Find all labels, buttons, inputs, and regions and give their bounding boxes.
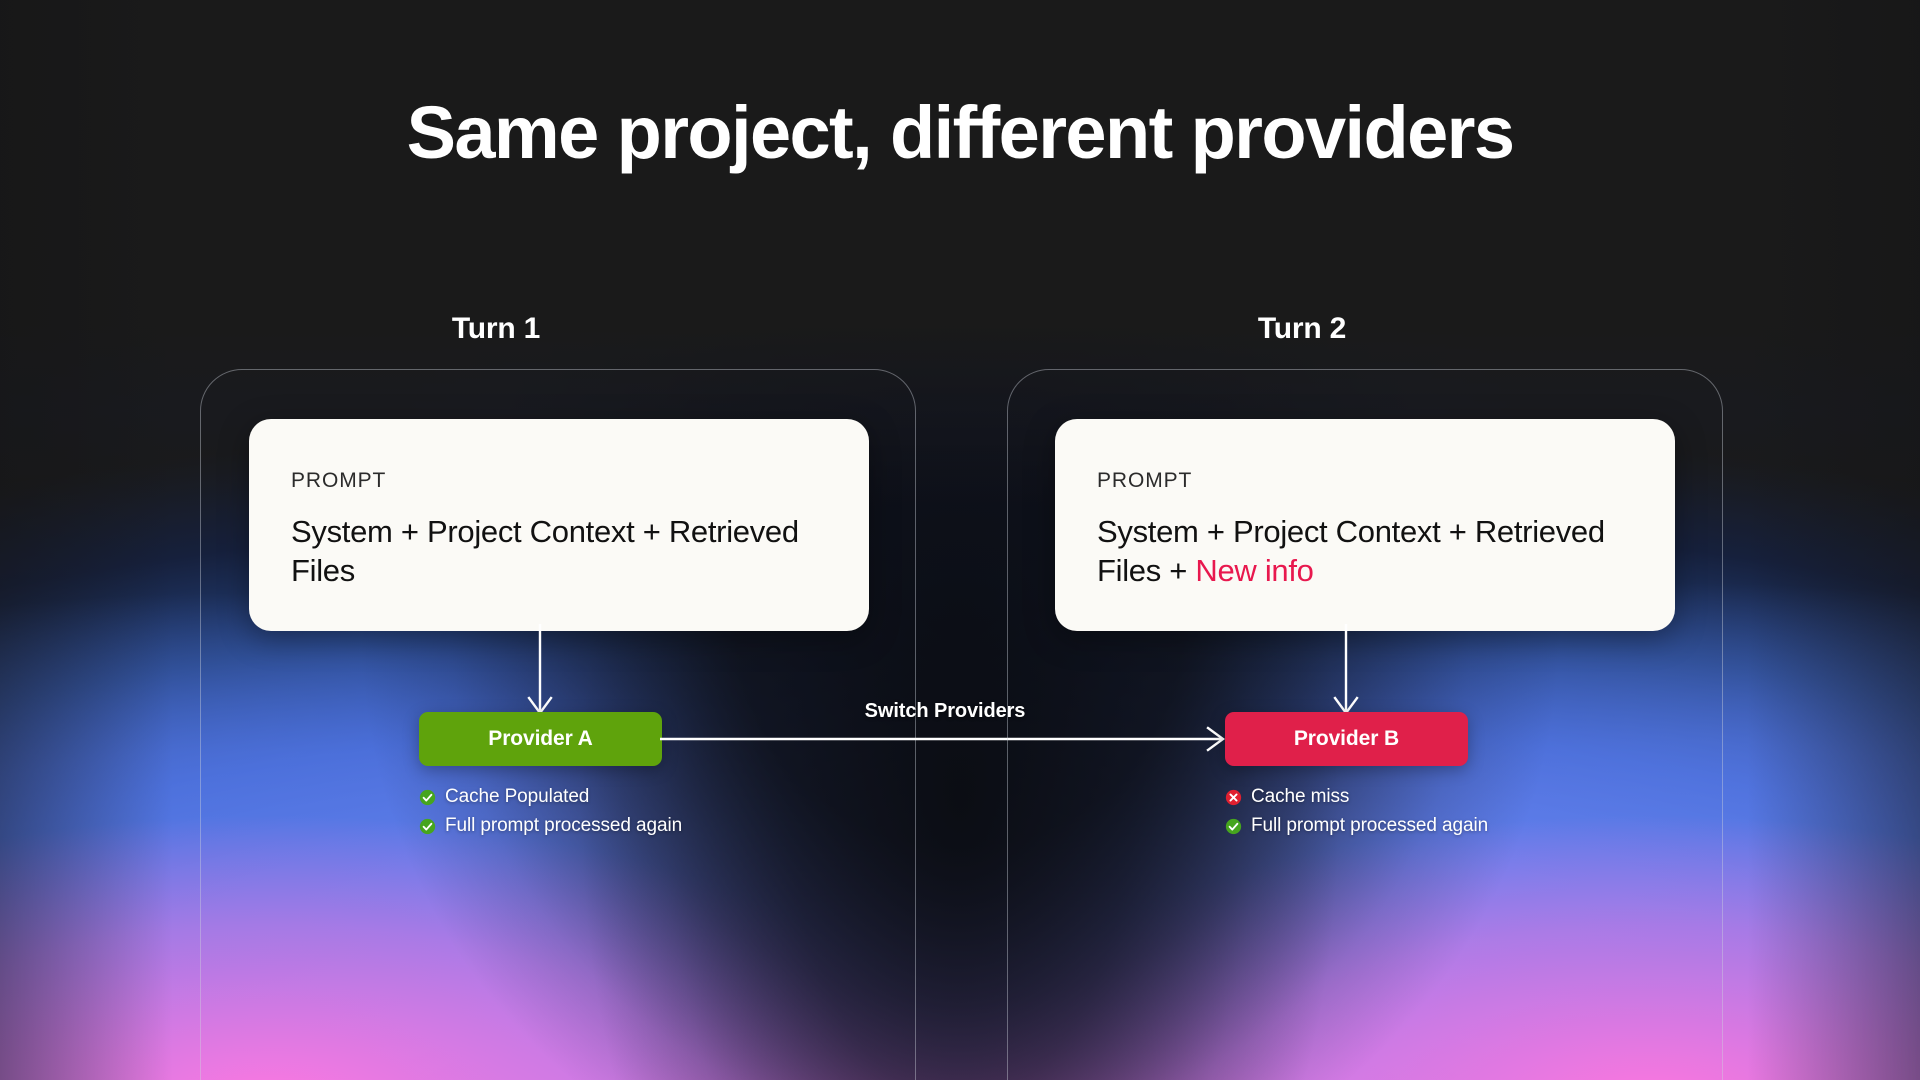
list-item: Cache Populated bbox=[419, 786, 682, 808]
provider-pill-b[interactable]: Provider B bbox=[1225, 712, 1468, 766]
check-circle-icon bbox=[419, 818, 436, 835]
check-circle-icon bbox=[1225, 818, 1242, 835]
prompt-line2-2: Files + bbox=[1097, 553, 1195, 588]
page-title: Same project, different providers bbox=[0, 94, 1920, 172]
switch-providers-label: Switch Providers bbox=[660, 700, 1230, 723]
list-item-label: Cache miss bbox=[1251, 786, 1349, 808]
list-item-label: Full prompt processed again bbox=[445, 815, 682, 837]
outcome-list-turn-1: Cache Populated Full prompt processed ag… bbox=[419, 786, 682, 844]
prompt-line1-1: System + Project Context + Retrieved bbox=[291, 514, 799, 549]
prompt-highlight-new-info: New info bbox=[1195, 553, 1313, 588]
list-item-label: Cache Populated bbox=[445, 786, 589, 808]
prompt-line2-1: Files bbox=[291, 553, 355, 588]
prompt-body-1: System + Project Context + Retrieved Fil… bbox=[291, 512, 827, 590]
prompt-line1-2: System + Project Context + Retrieved bbox=[1097, 514, 1605, 549]
turn-label-2: Turn 2 bbox=[1212, 312, 1392, 346]
x-circle-icon bbox=[1225, 789, 1242, 806]
prompt-card-turn-2: PROMPT System + Project Context + Retrie… bbox=[1055, 419, 1675, 631]
prompt-kicker-1: PROMPT bbox=[291, 469, 827, 493]
list-item-label: Full prompt processed again bbox=[1251, 815, 1488, 837]
arrow-prompt-to-provider-1 bbox=[520, 624, 560, 720]
prompt-body-2: System + Project Context + Retrieved Fil… bbox=[1097, 512, 1633, 590]
check-circle-icon bbox=[419, 789, 436, 806]
list-item: Full prompt processed again bbox=[419, 815, 682, 837]
arrow-prompt-to-provider-2 bbox=[1326, 624, 1366, 720]
provider-b-label: Provider B bbox=[1294, 727, 1399, 751]
provider-a-label: Provider A bbox=[488, 727, 592, 751]
turn-label-1: Turn 1 bbox=[406, 312, 586, 346]
list-item: Full prompt processed again bbox=[1225, 815, 1488, 837]
list-item: Cache miss bbox=[1225, 786, 1488, 808]
prompt-card-turn-1: PROMPT System + Project Context + Retrie… bbox=[249, 419, 869, 631]
slide-canvas: Same project, different providers Turn 1… bbox=[0, 0, 1920, 1080]
provider-pill-a[interactable]: Provider A bbox=[419, 712, 662, 766]
prompt-kicker-2: PROMPT bbox=[1097, 469, 1633, 493]
outcome-list-turn-2: Cache miss Full prompt processed again bbox=[1225, 786, 1488, 844]
arrow-switch-providers bbox=[660, 722, 1230, 756]
